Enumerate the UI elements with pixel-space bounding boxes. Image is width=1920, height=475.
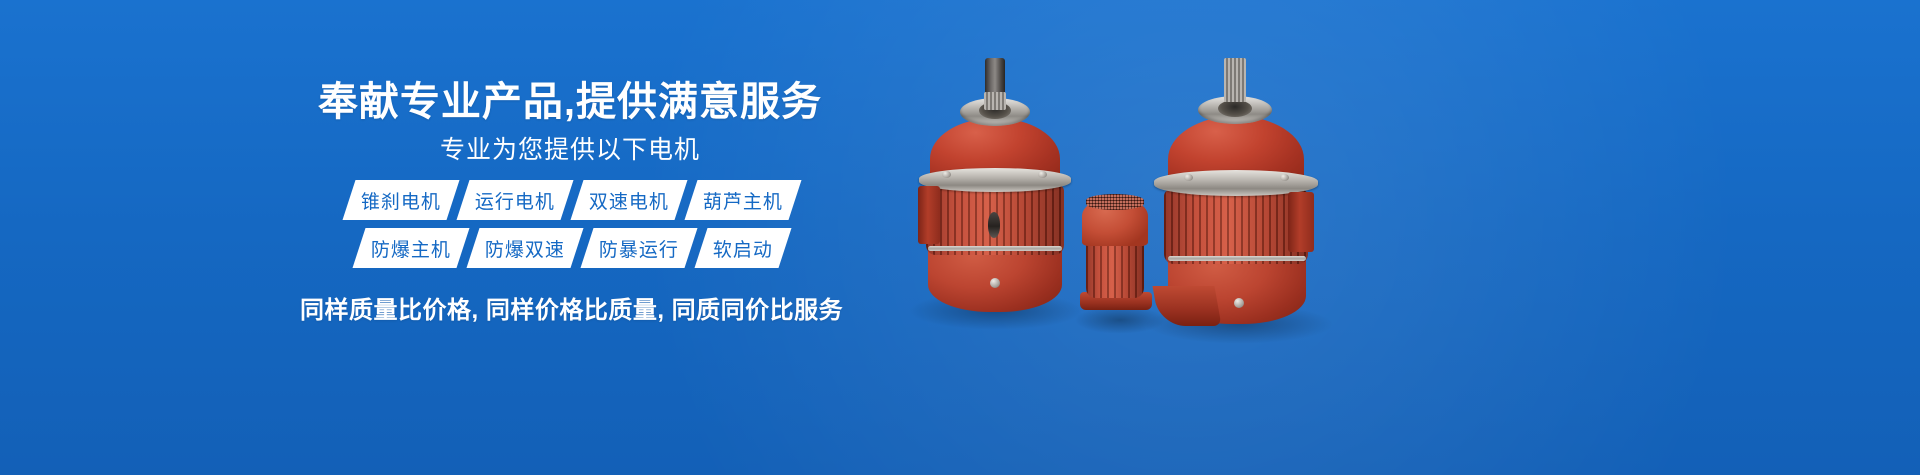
banner-text-block: 奉献专业产品,提供满意服务 专业为您提供以下电机 锥刹电机 运行电机 双速电机 … [300,60,840,360]
tag-yunxing-dianji[interactable]: 运行电机 [456,180,573,220]
motor-bolt [1184,174,1193,181]
tag-ruanqidong[interactable]: 软启动 [695,228,792,268]
tag-fangbao-shuangsu[interactable]: 防爆双速 [466,228,583,268]
promo-banner: 奉献专业产品,提供满意服务 专业为您提供以下电机 锥刹电机 运行电机 双速电机 … [0,0,1920,475]
tag-label: 运行电机 [475,187,555,214]
tag-fangbao-yunxing[interactable]: 防暴运行 [581,228,698,268]
motor-shaft-spline [1224,58,1246,102]
tag-zhuisha-dianji[interactable]: 锥刹电机 [342,180,459,220]
motor-bolt [1038,171,1047,178]
large-motor-left [900,40,1090,330]
large-motor-right [1138,50,1338,350]
tag-hulu-zhuji[interactable]: 葫芦主机 [685,180,802,220]
tag-label: 防暴运行 [599,235,679,262]
motor-band [928,246,1062,251]
motor-bolt [990,278,1000,288]
motor-bearing-core [1218,100,1252,117]
motor-grill [1086,194,1144,210]
banner-subtitle: 专业为您提供以下电机 [308,138,832,163]
motor-bolt [1280,174,1289,181]
tag-fangbao-zhuji[interactable]: 防爆主机 [352,228,469,268]
tag-label: 双速电机 [589,187,669,214]
page-title: 奉献专业产品,提供满意服务 [308,82,832,122]
motor-bolt [1234,298,1244,308]
tag-label: 防爆双速 [485,235,565,262]
motor-junction-box [918,186,940,244]
motor-latch [988,212,1000,238]
banner-tagline: 同样质量比价格, 同样价格比质量, 同质同价比服务 [300,290,840,325]
motor-band [1168,256,1306,261]
product-tag-group: 锥刹电机 运行电机 双速电机 葫芦主机 防爆主机 防爆双速 [312,178,832,274]
tag-label: 软启动 [713,235,773,262]
tag-row: 锥刹电机 运行电机 双速电机 葫芦主机 [312,178,832,222]
product-image-group [880,40,1400,340]
motor-junction-box [1288,192,1314,252]
motor-body-fins [1086,240,1144,298]
motor-shaft [985,58,1005,96]
tag-shuangsu-dianji[interactable]: 双速电机 [571,180,688,220]
motor-shaft-spline [984,92,1006,110]
motor-bolt [942,171,951,178]
tag-label: 葫芦主机 [703,187,783,214]
tag-label: 锥刹电机 [361,187,441,214]
motor-body-fins [1164,190,1308,264]
tag-label: 防爆主机 [371,235,451,262]
tag-row: 防爆主机 防爆双速 防暴运行 软启动 [312,226,832,270]
